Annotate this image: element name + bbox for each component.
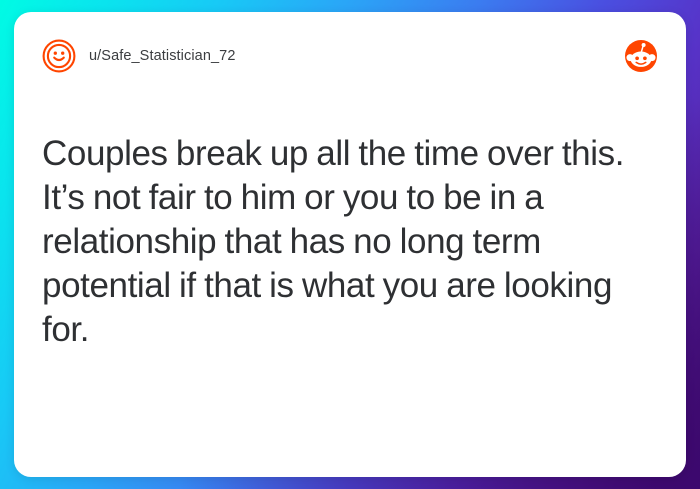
post-body-text: Couples break up all the time over this.… — [42, 132, 658, 352]
username-label: u/Safe_Statistician_72 — [89, 48, 236, 64]
post-header: u/Safe_Statistician_72 — [42, 36, 658, 76]
smiley-face-avatar-icon[interactable] — [42, 39, 76, 73]
post-card: u/Safe_Statistician_72 Couples break up … — [14, 12, 686, 477]
reddit-snoo-logo-icon[interactable] — [624, 39, 658, 73]
gradient-background: u/Safe_Statistician_72 Couples break up … — [0, 0, 700, 489]
